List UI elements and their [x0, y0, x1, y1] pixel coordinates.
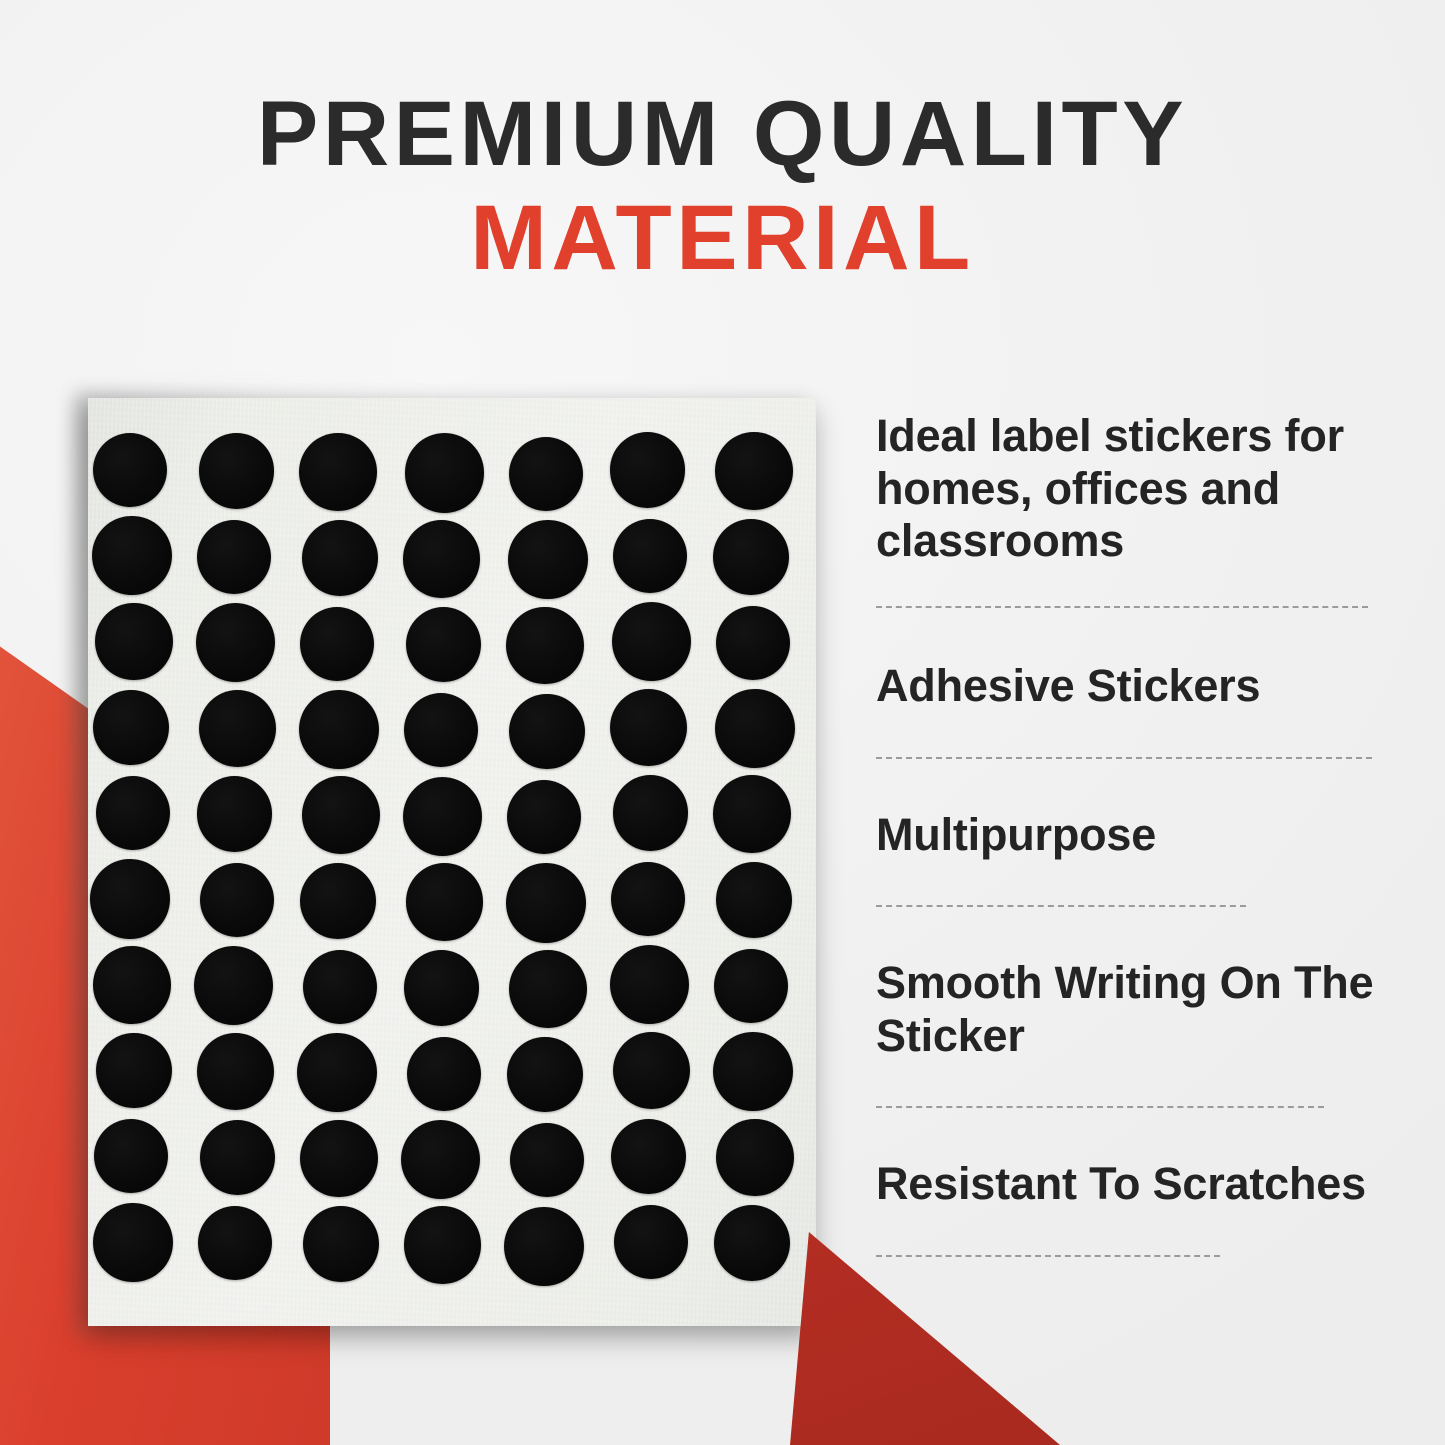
sticker-dot	[95, 603, 173, 681]
sticker-dot	[611, 862, 685, 936]
sticker-dot	[610, 689, 688, 767]
sticker-dot	[715, 432, 793, 510]
sticker-dot	[716, 606, 790, 680]
sticker-dot	[506, 607, 584, 685]
feature-divider-1	[876, 606, 1368, 608]
sticker-dot	[92, 516, 171, 595]
sticker-dot	[200, 1120, 276, 1196]
sticker-dot	[198, 1206, 272, 1280]
sticker-dot	[403, 520, 481, 598]
sticker-dot	[610, 432, 686, 508]
feature-divider-3	[876, 905, 1246, 907]
sticker-dot	[197, 520, 271, 594]
sticker-dot	[506, 863, 585, 942]
sticker-dot	[297, 1033, 376, 1112]
sticker-sheet-photo	[88, 398, 816, 1326]
headline-line-primary: PREMIUM QUALITY	[0, 88, 1445, 182]
feature-label-2: Adhesive Stickers	[876, 660, 1396, 713]
sticker-dot	[404, 693, 478, 767]
sticker-dot	[93, 946, 171, 1024]
sticker-dot	[713, 519, 789, 595]
sticker-dot	[613, 1032, 691, 1110]
headline-line-accent: MATERIAL	[0, 192, 1445, 286]
feature-item-4: Smooth Writing On The Sticker	[876, 957, 1396, 1062]
sticker-dot	[93, 690, 169, 766]
sticker-dot	[196, 603, 275, 682]
feature-label-5: Resistant To Scratches	[876, 1158, 1396, 1211]
sticker-dot	[504, 1207, 583, 1286]
sticker-dot	[303, 950, 377, 1024]
product-feature-banner: PREMIUM QUALITY MATERIAL Ideal label sti…	[0, 0, 1445, 1445]
sticker-dot	[299, 690, 378, 769]
sticker-dot	[406, 863, 484, 941]
sticker-dot	[403, 777, 482, 856]
sticker-dot	[303, 1206, 379, 1282]
sticker-dot	[300, 607, 374, 681]
sticker-dot	[715, 689, 794, 768]
sticker-dot	[716, 862, 792, 938]
sticker-dot	[300, 1120, 378, 1198]
feature-item-3: Multipurpose	[876, 809, 1396, 862]
sticker-dot	[200, 863, 274, 937]
sticker-dot	[197, 1033, 275, 1111]
red-triangle-decoration	[790, 1232, 1060, 1445]
sticker-dot	[406, 607, 482, 683]
sticker-dot	[302, 776, 380, 854]
sticker-dot	[96, 776, 170, 850]
sticker-dot	[714, 949, 788, 1023]
sticker-dot	[510, 1123, 584, 1197]
sticker-dot	[509, 694, 585, 770]
sticker-dot	[405, 433, 484, 512]
sticker-dot	[194, 946, 273, 1025]
sticker-dot	[610, 945, 689, 1024]
sticker-dot-grid	[88, 398, 816, 1326]
sticker-dot	[93, 1203, 172, 1282]
sticker-dot	[611, 1119, 687, 1195]
sticker-dot	[613, 775, 689, 851]
sticker-dot	[509, 437, 583, 511]
page-title: PREMIUM QUALITY MATERIAL	[0, 88, 1445, 286]
sticker-dot	[507, 1037, 583, 1113]
sticker-dot	[508, 520, 587, 599]
feature-item-5: Resistant To Scratches	[876, 1158, 1396, 1211]
sticker-dot	[90, 859, 169, 938]
feature-label-4: Smooth Writing On The Sticker	[876, 957, 1396, 1062]
feature-item-1: Ideal label stickers for homes, offices …	[876, 410, 1396, 568]
sticker-dot	[401, 1120, 480, 1199]
sticker-dot	[404, 950, 480, 1026]
sticker-dot	[713, 1032, 792, 1111]
feature-list: Ideal label stickers for homes, offices …	[876, 410, 1396, 1257]
sticker-dot	[94, 1119, 168, 1193]
sticker-dot	[299, 433, 377, 511]
sticker-dot	[509, 950, 587, 1028]
feature-label-3: Multipurpose	[876, 809, 1396, 862]
sticker-dot	[612, 602, 691, 681]
feature-divider-5	[876, 1255, 1220, 1257]
sticker-dot	[716, 1119, 794, 1197]
feature-item-2: Adhesive Stickers	[876, 660, 1396, 713]
sticker-dot	[507, 780, 581, 854]
sticker-dot	[300, 863, 376, 939]
sticker-dot	[199, 690, 277, 768]
feature-divider-2	[876, 757, 1372, 759]
sticker-dot	[407, 1037, 481, 1111]
sticker-dot	[614, 1205, 688, 1279]
sticker-dot	[714, 1205, 790, 1281]
feature-divider-4	[876, 1106, 1324, 1108]
sticker-dot	[713, 775, 791, 853]
feature-label-1: Ideal label stickers for homes, offices …	[876, 410, 1396, 568]
sticker-dot	[613, 519, 687, 593]
sticker-dot	[96, 1033, 172, 1109]
sticker-dot	[199, 433, 275, 509]
sticker-dot	[404, 1206, 482, 1284]
sticker-dot	[302, 520, 378, 596]
sticker-dot	[93, 433, 167, 507]
sticker-dot	[197, 776, 273, 852]
